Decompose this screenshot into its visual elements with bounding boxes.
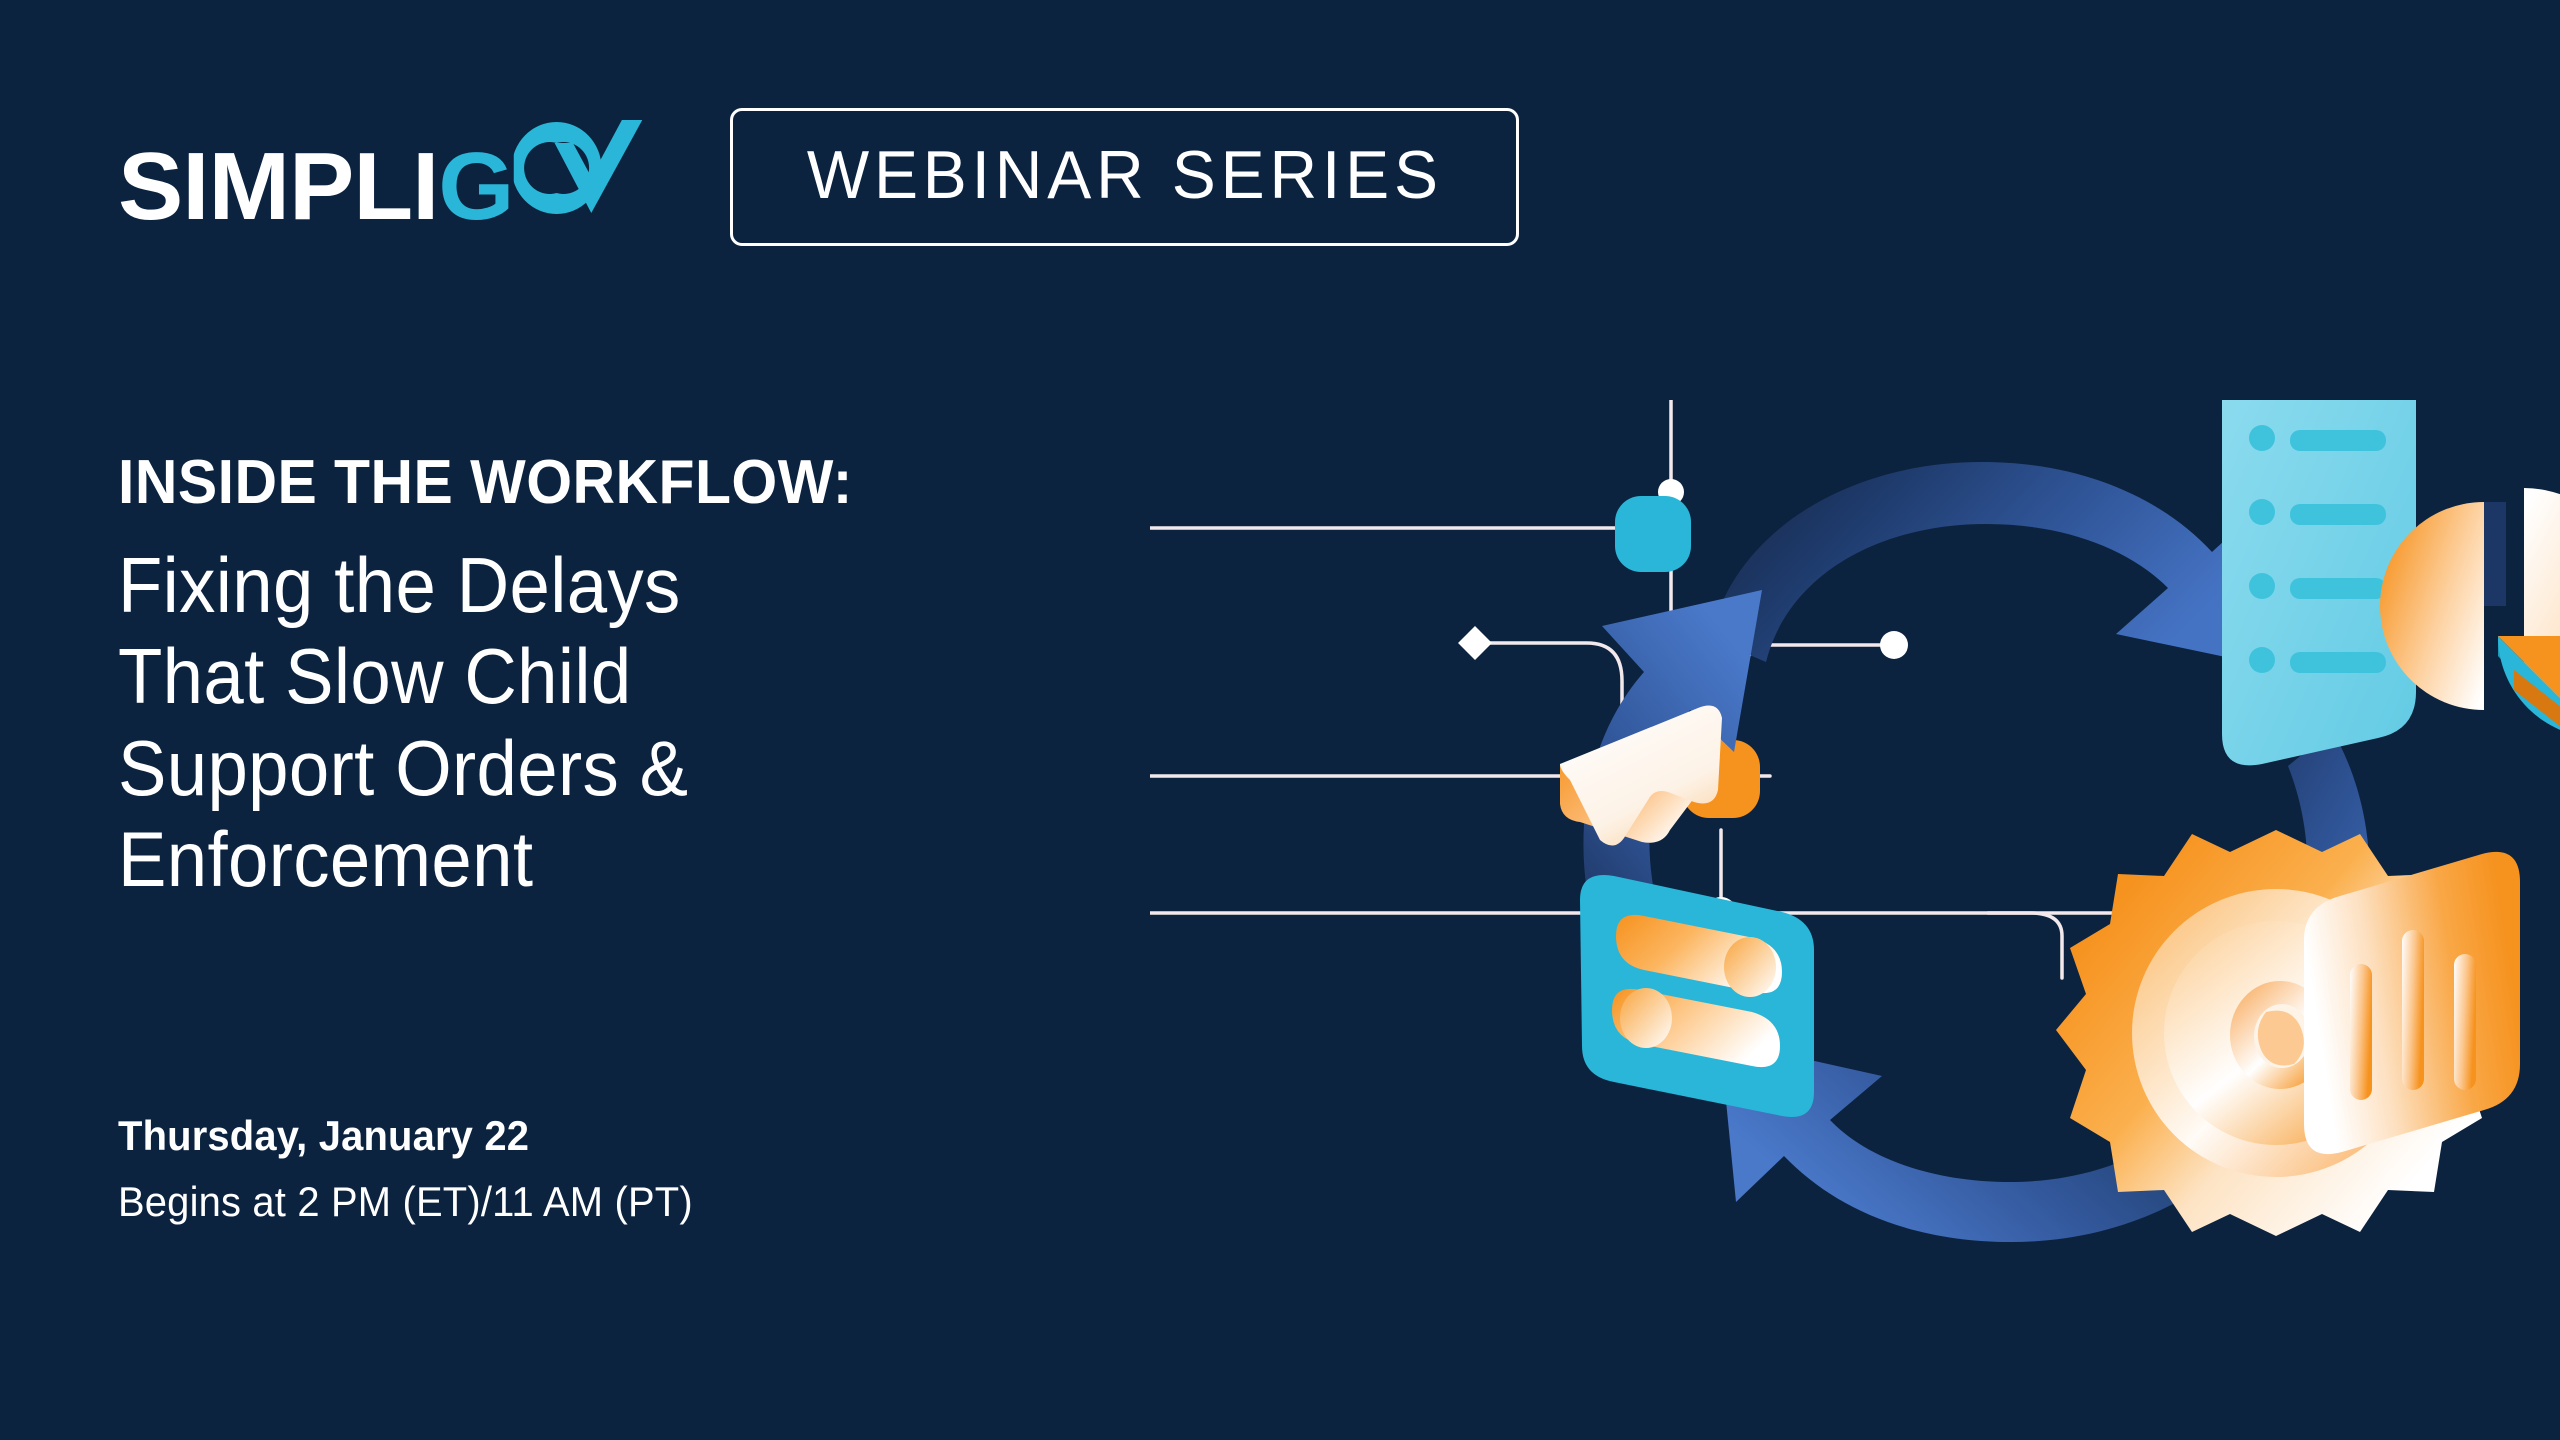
- bar-chart-card: [2304, 852, 2520, 1154]
- flowchart-node-cyan: [1615, 496, 1691, 572]
- flowchart-dot-terminal: [1880, 631, 1908, 659]
- ov-checkmark-icon: [513, 119, 648, 219]
- simpligov-logo[interactable]: SIMPLIG: [118, 119, 648, 235]
- webinar-series-badge: WEBINAR SERIES: [730, 108, 1520, 246]
- event-time: Begins at 2 PM (ET)/11 AM (PT): [118, 1175, 973, 1230]
- event-datetime-block: Thursday, January 22 Begins at 2 PM (ET)…: [118, 1110, 1018, 1229]
- toggle-on-knob: [1724, 937, 1776, 997]
- logo-simpli-text: SIMPLI: [118, 139, 438, 235]
- headline-block: INSIDE THE WORKFLOW: Fixing the Delays T…: [118, 452, 1158, 905]
- headline-line-2: That Slow Child: [118, 631, 1085, 722]
- workflow-automation-illustration: [1150, 400, 2560, 1400]
- event-date: Thursday, January 22: [118, 1110, 973, 1163]
- logo-g-text: G: [438, 139, 513, 235]
- header: SIMPLIG WEBINAR SERIES: [118, 108, 1519, 246]
- eyebrow-text: INSIDE THE WORKFLOW:: [118, 452, 1106, 514]
- headline-text: Fixing the Delays That Slow Child Suppor…: [118, 540, 1085, 905]
- webinar-series-label: WEBINAR SERIES: [807, 141, 1443, 209]
- poster-canvas: SIMPLIG WEBINAR SERIES INSIDE THE WORKFL…: [0, 0, 2560, 1440]
- flowchart-diamond-terminal: [1458, 626, 1492, 660]
- toggle-off-knob: [1620, 988, 1672, 1048]
- headline-line-3: Support Orders &: [118, 723, 1085, 814]
- pie-slice-orange-left: [2484, 502, 2506, 606]
- cycle-arrow-top: [1710, 462, 2278, 668]
- headline-line-1: Fixing the Delays: [118, 540, 1085, 631]
- headline-line-4: Enforcement: [118, 814, 1085, 905]
